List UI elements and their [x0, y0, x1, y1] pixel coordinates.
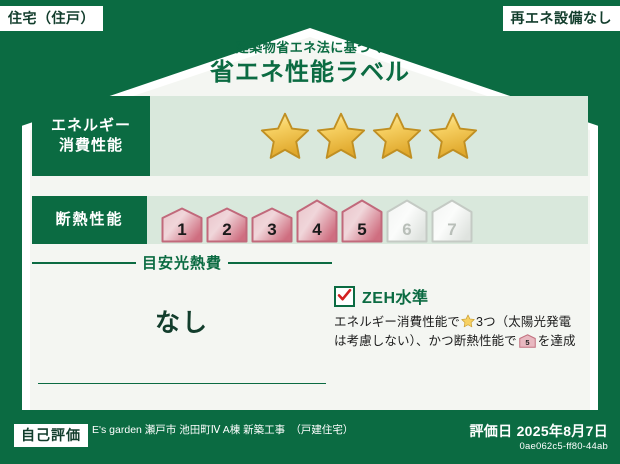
star-icon-filled [428, 111, 478, 161]
label-subtitle: 建築物省エネ法に基づく [0, 40, 620, 56]
check-icon [337, 288, 352, 303]
rule-right [228, 262, 332, 264]
utility-cost-value: なし [32, 303, 332, 339]
utility-cost-bottom-rule [38, 383, 326, 384]
label-footer: 自己評価 E's garden 瀬戸市 池田町Ⅳ A棟 新築工事 （戸建住宅） … [0, 416, 620, 464]
insulation-level-6: 6 [386, 199, 428, 243]
label-title-block: 建築物省エネ法に基づく 省エネ性能ラベル [0, 40, 620, 88]
star-icon-filled [372, 111, 422, 161]
utility-cost-title: 目安光熱費 [142, 252, 222, 273]
zeh-desc-part4: を達成 [538, 334, 576, 348]
zeh-block: ZEH水準 エネルギー消費性能で 3つ（太陽光発電 は考慮しない）、かつ断熱性能… [334, 284, 590, 352]
energy-performance-value [150, 96, 588, 176]
insulation-performance-label: 断熱性能 [32, 196, 147, 244]
svg-text:7: 7 [447, 220, 456, 239]
svg-text:2: 2 [222, 220, 231, 239]
star-icon-filled [260, 111, 310, 161]
zeh-header: ZEH水準 [334, 284, 590, 308]
corner-tag-renewable-equipment: 再エネ設備なし [503, 6, 620, 31]
insulation-house-icon: 5 [519, 334, 536, 348]
svg-text:5: 5 [357, 220, 366, 239]
project-name: E's garden 瀬戸市 池田町Ⅳ A棟 新築工事 （戸建住宅） [92, 423, 392, 438]
zeh-desc-part1: エネルギー消費性能で [334, 315, 460, 329]
energy-label-line1: エネルギー [51, 116, 131, 136]
svg-text:4: 4 [312, 220, 322, 239]
energy-performance-label: エネルギー 消費性能 [32, 96, 150, 176]
energy-performance-row: エネルギー 消費性能 [32, 96, 588, 176]
zeh-title: ZEH水準 [362, 284, 429, 308]
energy-label-root: 住宅（住戸） 再エネ設備なし 建築物省エネ法に基づく 省エネ性能ラベル エネルギ… [0, 0, 620, 464]
insulation-level-scale: 1234567 [161, 197, 473, 243]
utility-cost-header: 目安光熱費 [32, 252, 332, 273]
svg-text:5: 5 [525, 338, 529, 347]
insulation-level-3: 3 [251, 207, 293, 243]
utility-cost-block: 目安光熱費 なし [32, 252, 332, 392]
insulation-level-5: 5 [341, 199, 383, 243]
zeh-desc-part2: 3つ（太陽光発電 [476, 315, 571, 329]
insulation-level-2: 2 [206, 207, 248, 243]
star-rating [260, 111, 478, 161]
star-icon-filled [316, 111, 366, 161]
corner-tag-building-type: 住宅（住戸） [0, 6, 103, 31]
insulation-level-7: 7 [431, 199, 473, 243]
insulation-performance-value: 1234567 [147, 196, 588, 244]
self-evaluation-badge: 自己評価 [14, 424, 88, 447]
insulation-level-4: 4 [296, 199, 338, 243]
star-icon [461, 314, 475, 328]
evaluation-id: 0ae062c5-ff80-44ab [520, 441, 608, 452]
evaluation-date: 評価日 2025年8月7日 [469, 421, 608, 441]
energy-label-line2: 消費性能 [59, 136, 123, 156]
svg-text:1: 1 [177, 220, 186, 239]
svg-text:6: 6 [402, 220, 411, 239]
insulation-level-1: 1 [161, 207, 203, 243]
insulation-performance-row: 断熱性能 1234567 [32, 196, 588, 244]
svg-text:3: 3 [267, 220, 276, 239]
label-title: 省エネ性能ラベル [0, 58, 620, 88]
zeh-checkbox[interactable] [334, 286, 355, 307]
rule-left [32, 262, 136, 264]
zeh-description: エネルギー消費性能で 3つ（太陽光発電 は考慮しない）、かつ断熱性能で 5 を達… [334, 313, 590, 352]
zeh-desc-part3: は考慮しない）、かつ断熱性能で [334, 334, 517, 348]
